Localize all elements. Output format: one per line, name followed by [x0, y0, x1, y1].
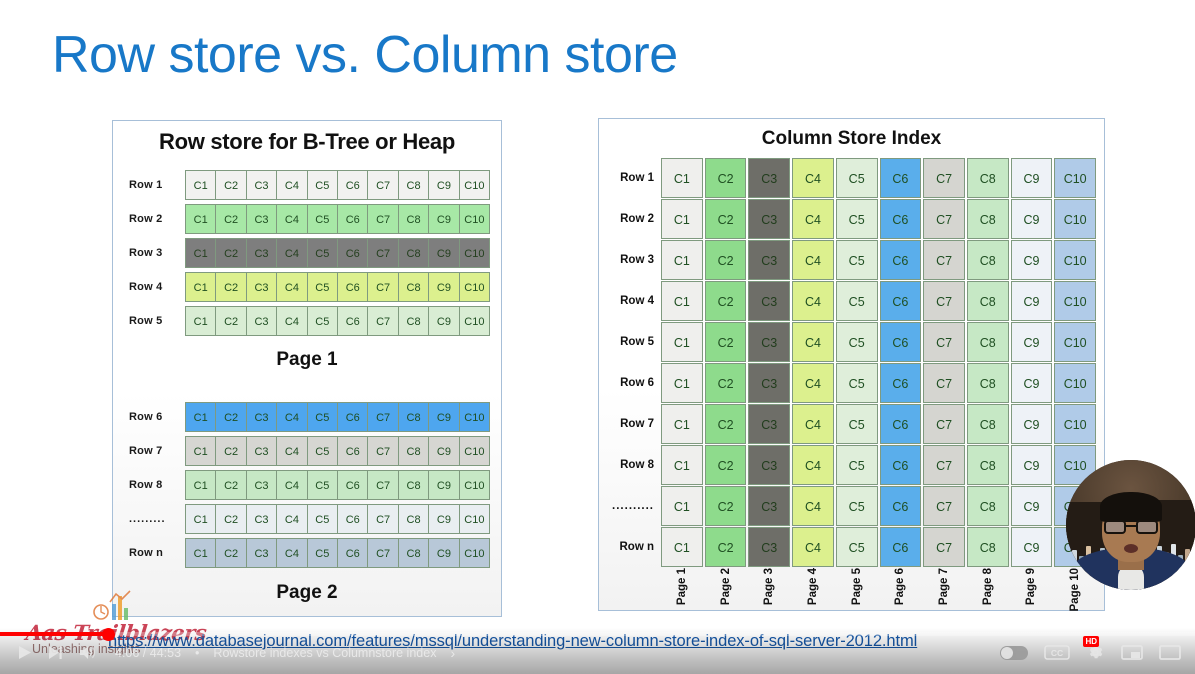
colstore-cell: C8 — [967, 445, 1009, 485]
colstore-cell: C8 — [967, 486, 1009, 526]
rowstore-cell: C6 — [337, 272, 368, 302]
colstore-row-label: Row n — [599, 541, 661, 553]
rowstore-row-label: Row 3 — [113, 247, 185, 259]
rowstore-cell: C1 — [185, 402, 216, 432]
rowstore-row-label: Row 8 — [113, 479, 185, 491]
colstore-cell: C4 — [792, 527, 834, 567]
player-left-controls: 4:06 / 44:53 • Rowstore indexes vs Colum… — [16, 644, 455, 661]
rowstore-cell: C10 — [459, 538, 490, 568]
rowstore-cell: C5 — [307, 170, 338, 200]
colstore-cell: C3 — [748, 445, 790, 485]
rowstore-cell: C4 — [276, 170, 307, 200]
colstore-cell: C8 — [967, 240, 1009, 280]
colstore-row-cells: C1C2C3C4C5C6C7C8C9C10 — [661, 322, 1104, 362]
colstore-row-cells: C1C2C3C4C5C6C7C8C9C10 — [661, 158, 1104, 198]
colstore-cell: C5 — [836, 404, 878, 444]
colstore-title: Column Store Index — [599, 128, 1104, 150]
rowstore-cell: C6 — [337, 170, 368, 200]
page-title: Row store vs. Column store — [52, 28, 678, 83]
rowstore-cell: C9 — [428, 470, 459, 500]
colstore-cell: C4 — [792, 363, 834, 403]
rowstore-row: Row 4C1C2C3C4C5C6C7C8C9C10 — [113, 271, 501, 302]
rowstore-cell: C2 — [215, 504, 246, 534]
colstore-cell: C6 — [880, 281, 922, 321]
rowstore-cell: C7 — [367, 504, 398, 534]
rowstore-cell: C5 — [307, 504, 338, 534]
presenter-glasses — [1104, 520, 1158, 534]
rowstore-cell: C8 — [398, 238, 429, 268]
colstore-cell: C9 — [1011, 527, 1053, 567]
colstore-cell: C10 — [1054, 322, 1096, 362]
colstore-cell: C5 — [836, 158, 878, 198]
rowstore-cell: C1 — [185, 170, 216, 200]
colstore-cell: C1 — [661, 199, 703, 239]
rowstore-row-cells: C1C2C3C4C5C6C7C8C9C10 — [185, 170, 501, 200]
colstore-cell: C4 — [792, 158, 834, 198]
colstore-page-labels-row: Page 1Page 2Page 3Page 4Page 5Page 6Page… — [599, 568, 1104, 620]
colstore-panel: Column Store Index Row 1C1C2C3C4C5C6C7C8… — [598, 118, 1105, 611]
colstore-cell: C5 — [836, 199, 878, 239]
rowstore-row: Row 8C1C2C3C4C5C6C7C8C9C10 — [113, 469, 501, 500]
colstore-cell: C4 — [792, 404, 834, 444]
rowstore-cell: C7 — [367, 204, 398, 234]
presenter-mouth — [1124, 544, 1138, 553]
colstore-cell: C6 — [880, 445, 922, 485]
rowstore-cell: C1 — [185, 504, 216, 534]
rowstore-row-cells: C1C2C3C4C5C6C7C8C9C10 — [185, 436, 501, 466]
colstore-cell: C4 — [792, 199, 834, 239]
rowstore-cell: C9 — [428, 436, 459, 466]
colstore-cell: C7 — [923, 363, 965, 403]
fullscreen-icon[interactable] — [1159, 644, 1181, 661]
rowstore-row-cells: C1C2C3C4C5C6C7C8C9C10 — [185, 204, 501, 234]
rowstore-cell: C8 — [398, 306, 429, 336]
rowstore-cell: C7 — [367, 470, 398, 500]
rowstore-row: Row 2C1C2C3C4C5C6C7C8C9C10 — [113, 203, 501, 234]
rowstore-cell: C7 — [367, 306, 398, 336]
rowstore-cell: C2 — [215, 272, 246, 302]
rowstore-page-1: Row 1C1C2C3C4C5C6C7C8C9C10Row 2C1C2C3C4C… — [113, 169, 501, 339]
rowstore-cell: C3 — [246, 470, 277, 500]
rowstore-row: Row 7C1C2C3C4C5C6C7C8C9C10 — [113, 435, 501, 466]
colstore-cell: C9 — [1011, 363, 1053, 403]
rowstore-row: Row 5C1C2C3C4C5C6C7C8C9C10 — [113, 305, 501, 336]
rowstore-row: Row 3C1C2C3C4C5C6C7C8C9C10 — [113, 237, 501, 268]
colstore-row-cells: C1C2C3C4C5C6C7C8C9C10 — [661, 240, 1104, 280]
colstore-row-label: Row 7 — [599, 418, 661, 430]
rowstore-cell: C10 — [459, 170, 490, 200]
colstore-cell: C4 — [792, 445, 834, 485]
colstore-page-label: Page 9 — [1011, 568, 1053, 620]
rowstore-cell: C10 — [459, 238, 490, 268]
colstore-cell: C2 — [705, 158, 747, 198]
colstore-row-cells: C1C2C3C4C5C6C7C8C9C10 — [661, 486, 1104, 526]
rowstore-row-label: Row 4 — [113, 281, 185, 293]
colstore-cell: C6 — [880, 322, 922, 362]
colstore-cell: C3 — [748, 404, 790, 444]
rowstore-cell: C7 — [367, 436, 398, 466]
colstore-page-label: Page 6 — [880, 568, 922, 620]
colstore-cell: C2 — [705, 527, 747, 567]
rowstore-row-label: Row 2 — [113, 213, 185, 225]
colstore-row: Row 5C1C2C3C4C5C6C7C8C9C10 — [599, 321, 1104, 362]
rowstore-cell: C2 — [215, 238, 246, 268]
closed-captions-icon[interactable]: CC — [1044, 644, 1070, 661]
rowstore-cell: C6 — [337, 470, 368, 500]
colstore-cell: C10 — [1054, 404, 1096, 444]
colstore-row: Row 6C1C2C3C4C5C6C7C8C9C10 — [599, 362, 1104, 403]
rowstore-cell: C2 — [215, 204, 246, 234]
time-chapter-separator: • — [195, 646, 199, 660]
rowstore-row-cells: C1C2C3C4C5C6C7C8C9C10 — [185, 272, 501, 302]
rowstore-cell: C1 — [185, 272, 216, 302]
rowstore-cell: C5 — [307, 436, 338, 466]
rowstore-cell: C1 — [185, 538, 216, 568]
rowstore-cell: C2 — [215, 402, 246, 432]
colstore-cell: C3 — [748, 486, 790, 526]
colstore-cell: C6 — [880, 158, 922, 198]
colstore-row: ..........C1C2C3C4C5C6C7C8C9C10 — [599, 485, 1104, 526]
rowstore-cell: C3 — [246, 504, 277, 534]
colstore-cell: C7 — [923, 322, 965, 362]
colstore-cell: C2 — [705, 404, 747, 444]
rowstore-cell: C9 — [428, 504, 459, 534]
colstore-cell: C1 — [661, 445, 703, 485]
progress-played — [0, 632, 108, 636]
colstore-cell: C5 — [836, 281, 878, 321]
rowstore-cell: C1 — [185, 436, 216, 466]
rowstore-cell: C2 — [215, 436, 246, 466]
colstore-cell: C8 — [967, 363, 1009, 403]
rowstore-row-cells: C1C2C3C4C5C6C7C8C9C10 — [185, 470, 501, 500]
rowstore-cell: C8 — [398, 470, 429, 500]
rowstore-row: Row 6C1C2C3C4C5C6C7C8C9C10 — [113, 401, 501, 432]
rowstore-cell: C3 — [246, 538, 277, 568]
rowstore-row: Row nC1C2C3C4C5C6C7C8C9C10 — [113, 537, 501, 568]
colstore-row-label: Row 1 — [599, 172, 661, 184]
colstore-cell: C3 — [748, 158, 790, 198]
colstore-cell: C10 — [1054, 158, 1096, 198]
colstore-row-label: Row 2 — [599, 213, 661, 225]
colstore-cell: C8 — [967, 199, 1009, 239]
rowstore-row-label: Row n — [113, 547, 185, 559]
rowstore-cell: C6 — [337, 402, 368, 432]
colstore-cell: C8 — [967, 158, 1009, 198]
colstore-cell: C9 — [1011, 281, 1053, 321]
colstore-cell: C5 — [836, 527, 878, 567]
rowstore-row-label: Row 1 — [113, 179, 185, 191]
rowstore-cell: C1 — [185, 306, 216, 336]
presenter-hair — [1100, 492, 1162, 522]
colstore-cell: C7 — [923, 445, 965, 485]
colstore-cell: C2 — [705, 281, 747, 321]
rowstore-cell: C6 — [337, 204, 368, 234]
rowstore-cell: C4 — [276, 538, 307, 568]
rowstore-cell: C10 — [459, 504, 490, 534]
colstore-cell: C6 — [880, 199, 922, 239]
colstore-cell: C2 — [705, 486, 747, 526]
rowstore-cell: C8 — [398, 170, 429, 200]
colstore-row-cells: C1C2C3C4C5C6C7C8C9C10 — [661, 527, 1104, 567]
colstore-cell: C5 — [836, 445, 878, 485]
rowstore-cell: C9 — [428, 306, 459, 336]
rowstore-cell: C9 — [428, 238, 459, 268]
rowstore-cell: C9 — [428, 538, 459, 568]
colstore-page-label: Page 1 — [661, 568, 703, 620]
video-control-bar: 4:06 / 44:53 • Rowstore indexes vs Colum… — [0, 628, 1195, 674]
rowstore-cell: C3 — [246, 402, 277, 432]
colstore-cell: C3 — [748, 240, 790, 280]
colstore-cell: C5 — [836, 322, 878, 362]
rowstore-cell: C3 — [246, 238, 277, 268]
rowstore-cell: C10 — [459, 470, 490, 500]
colstore-page-label: Page 2 — [705, 568, 747, 620]
colstore-cell: C8 — [967, 281, 1009, 321]
colstore-row-label: Row 5 — [599, 336, 661, 348]
colstore-cell: C10 — [1054, 199, 1096, 239]
colstore-row-cells: C1C2C3C4C5C6C7C8C9C10 — [661, 445, 1104, 485]
rowstore-cell: C6 — [337, 538, 368, 568]
colstore-cell: C1 — [661, 322, 703, 362]
colstore-cell: C7 — [923, 199, 965, 239]
rowstore-row: Row 1C1C2C3C4C5C6C7C8C9C10 — [113, 169, 501, 200]
rowstore-row-cells: C1C2C3C4C5C6C7C8C9C10 — [185, 306, 501, 336]
colstore-cell: C3 — [748, 199, 790, 239]
rowstore-cell: C10 — [459, 204, 490, 234]
rowstore-cell: C1 — [185, 238, 216, 268]
colstore-cell: C2 — [705, 199, 747, 239]
colstore-cell: C7 — [923, 404, 965, 444]
colstore-cell: C2 — [705, 363, 747, 403]
rowstore-panel: Row store for B-Tree or Heap Row 1C1C2C3… — [112, 120, 502, 617]
colstore-cell: C7 — [923, 527, 965, 567]
colstore-cell: C9 — [1011, 486, 1053, 526]
svg-text:CC: CC — [1051, 648, 1063, 658]
rowstore-cell: C3 — [246, 204, 277, 234]
colstore-row: Row 2C1C2C3C4C5C6C7C8C9C10 — [599, 198, 1104, 239]
chart-logo-icon — [92, 588, 138, 626]
autoplay-toggle[interactable] — [1000, 646, 1028, 660]
colstore-cell: C9 — [1011, 199, 1053, 239]
video-chapter-title[interactable]: Rowstore indexes vs Columnstore index — [213, 646, 436, 660]
rowstore-cell: C3 — [246, 436, 277, 466]
colstore-cell: C3 — [748, 527, 790, 567]
rowstore-cell: C5 — [307, 402, 338, 432]
colstore-row-cells: C1C2C3C4C5C6C7C8C9C10 — [661, 199, 1104, 239]
colstore-cell: C1 — [661, 281, 703, 321]
colstore-row-cells: C1C2C3C4C5C6C7C8C9C10 — [661, 404, 1104, 444]
quality-hd-badge: HD — [1083, 636, 1099, 647]
colstore-cell: C6 — [880, 240, 922, 280]
rowstore-cell: C6 — [337, 436, 368, 466]
colstore-cell: C6 — [880, 486, 922, 526]
rowstore-cell: C10 — [459, 402, 490, 432]
colstore-page-label: Page 8 — [967, 568, 1009, 620]
video-progress-bar[interactable] — [0, 632, 1195, 636]
colstore-cell: C4 — [792, 486, 834, 526]
rowstore-row-cells: C1C2C3C4C5C6C7C8C9C10 — [185, 504, 501, 534]
rowstore-cell: C7 — [367, 272, 398, 302]
rowstore-cell: C1 — [185, 204, 216, 234]
rowstore-cell: C6 — [337, 238, 368, 268]
colstore-row-label: Row 4 — [599, 295, 661, 307]
page-caption-2: Page 2 — [113, 582, 501, 604]
colstore-cell: C2 — [705, 322, 747, 362]
colstore-cell: C1 — [661, 158, 703, 198]
rowstore-cell: C2 — [215, 470, 246, 500]
colstore-cell: C9 — [1011, 445, 1053, 485]
rowstore-cell: C3 — [246, 306, 277, 336]
colstore-cell: C7 — [923, 158, 965, 198]
rowstore-cell: C5 — [307, 470, 338, 500]
miniplayer-icon[interactable] — [1121, 644, 1143, 661]
colstore-cell: C4 — [792, 322, 834, 362]
rowstore-cell: C9 — [428, 402, 459, 432]
progress-scrubber-handle[interactable] — [102, 628, 115, 641]
page-caption-1: Page 1 — [113, 349, 501, 371]
rowstore-cell: C8 — [398, 402, 429, 432]
rowstore-cell: C7 — [367, 170, 398, 200]
colstore-row-label: .......... — [599, 500, 661, 512]
colstore-row-label: Row 3 — [599, 254, 661, 266]
colstore-cell: C6 — [880, 527, 922, 567]
rowstore-row-label: Row 6 — [113, 411, 185, 423]
colstore-cell: C9 — [1011, 240, 1053, 280]
colstore-page-label: Page 7 — [923, 568, 965, 620]
rowstore-cell: C8 — [398, 504, 429, 534]
rowstore-cell: C4 — [276, 436, 307, 466]
colstore-cell: C1 — [661, 527, 703, 567]
colstore-cell: C1 — [661, 240, 703, 280]
colstore-cell: C5 — [836, 363, 878, 403]
rowstore-cell: C4 — [276, 470, 307, 500]
rowstore-row-cells: C1C2C3C4C5C6C7C8C9C10 — [185, 402, 501, 432]
colstore-cell: C4 — [792, 281, 834, 321]
rowstore-cell: C9 — [428, 272, 459, 302]
rowstore-cell: C5 — [307, 306, 338, 336]
rowstore-cell: C10 — [459, 436, 490, 466]
rowstore-cell: C7 — [367, 538, 398, 568]
colstore-cell: C6 — [880, 404, 922, 444]
colstore-row-label: Row 6 — [599, 377, 661, 389]
colstore-cell: C7 — [923, 281, 965, 321]
colstore-cell: C8 — [967, 404, 1009, 444]
rowstore-cell: C8 — [398, 204, 429, 234]
colstore-row: Row 4C1C2C3C4C5C6C7C8C9C10 — [599, 280, 1104, 321]
rowstore-cell: C5 — [307, 272, 338, 302]
rowstore-cell: C5 — [307, 238, 338, 268]
rowstore-cell: C8 — [398, 538, 429, 568]
colstore-cell: C10 — [1054, 363, 1096, 403]
video-time-display: 4:06 / 44:53 — [115, 646, 181, 660]
colstore-row-label: Row 8 — [599, 459, 661, 471]
rowstore-cell: C2 — [215, 170, 246, 200]
colstore-row: Row 3C1C2C3C4C5C6C7C8C9C10 — [599, 239, 1104, 280]
colstore-cell: C1 — [661, 486, 703, 526]
rowstore-cell: C6 — [337, 504, 368, 534]
colstore-cell: C10 — [1054, 240, 1096, 280]
colstore-cell: C6 — [880, 363, 922, 403]
colstore-row-cells: C1C2C3C4C5C6C7C8C9C10 — [661, 363, 1104, 403]
colstore-cell: C3 — [748, 281, 790, 321]
colstore-row: Row 7C1C2C3C4C5C6C7C8C9C10 — [599, 403, 1104, 444]
colstore-cell: C9 — [1011, 404, 1053, 444]
play-icon[interactable] — [16, 644, 33, 661]
colstore-grid: Row 1C1C2C3C4C5C6C7C8C9C10Row 2C1C2C3C4C… — [599, 157, 1104, 620]
rowstore-cell: C4 — [276, 306, 307, 336]
colstore-cell: C5 — [836, 240, 878, 280]
next-track-icon[interactable] — [47, 644, 64, 661]
rowstore-cell: C7 — [367, 238, 398, 268]
colstore-cell: C5 — [836, 486, 878, 526]
colstore-cell: C8 — [967, 527, 1009, 567]
colstore-page-label: Page 5 — [836, 568, 878, 620]
colstore-page-label: Page 4 — [792, 568, 834, 620]
rowstore-cell: C5 — [307, 204, 338, 234]
rowstore-row-label: Row 7 — [113, 445, 185, 457]
rowstore-cell: C5 — [307, 538, 338, 568]
slide-canvas: Row store vs. Column store Row store for… — [0, 0, 1195, 674]
colstore-cell: C10 — [1054, 281, 1096, 321]
colstore-row-cells: C1C2C3C4C5C6C7C8C9C10 — [661, 281, 1104, 321]
rowstore-cell: C4 — [276, 402, 307, 432]
rowstore-cell: C8 — [398, 436, 429, 466]
rowstore-cell: C4 — [276, 272, 307, 302]
rowstore-row: .........C1C2C3C4C5C6C7C8C9C10 — [113, 503, 501, 534]
rowstore-page-2: Row 6C1C2C3C4C5C6C7C8C9C10Row 7C1C2C3C4C… — [113, 401, 501, 571]
rowstore-row-cells: C1C2C3C4C5C6C7C8C9C10 — [185, 238, 501, 268]
rowstore-row-cells: C1C2C3C4C5C6C7C8C9C10 — [185, 538, 501, 568]
presenter-webcam-overlay[interactable] — [1066, 460, 1195, 590]
chapter-chevron-icon[interactable]: › — [450, 645, 455, 661]
rowstore-cell: C8 — [398, 272, 429, 302]
rowstore-title: Row store for B-Tree or Heap — [113, 129, 501, 155]
colstore-cell: C9 — [1011, 322, 1053, 362]
rowstore-cell: C10 — [459, 306, 490, 336]
colstore-cell: C3 — [748, 363, 790, 403]
rowstore-cell: C10 — [459, 272, 490, 302]
colstore-page-label: Page 3 — [748, 568, 790, 620]
colstore-cell: C9 — [1011, 158, 1053, 198]
colstore-row: Row nC1C2C3C4C5C6C7C8C9C10 — [599, 526, 1104, 567]
colstore-row: Row 8C1C2C3C4C5C6C7C8C9C10 — [599, 444, 1104, 485]
rowstore-cell: C3 — [246, 170, 277, 200]
rowstore-cell: C7 — [367, 402, 398, 432]
volume-icon[interactable] — [78, 644, 97, 661]
rowstore-row-label: ......... — [113, 513, 185, 525]
colstore-cell: C2 — [705, 240, 747, 280]
rowstore-cell: C9 — [428, 170, 459, 200]
rowstore-cell: C3 — [246, 272, 277, 302]
rowstore-cell: C9 — [428, 204, 459, 234]
colstore-row: Row 1C1C2C3C4C5C6C7C8C9C10 — [599, 157, 1104, 198]
colstore-cell: C8 — [967, 322, 1009, 362]
colstore-cell: C1 — [661, 363, 703, 403]
rowstore-cell: C4 — [276, 504, 307, 534]
rowstore-cell: C2 — [215, 306, 246, 336]
rowstore-cell: C4 — [276, 204, 307, 234]
rowstore-cell: C4 — [276, 238, 307, 268]
colstore-cell: C7 — [923, 240, 965, 280]
rowstore-row-label: Row 5 — [113, 315, 185, 327]
rowstore-cell: C2 — [215, 538, 246, 568]
colstore-cell: C7 — [923, 486, 965, 526]
colstore-cell: C2 — [705, 445, 747, 485]
colstore-cell: C1 — [661, 404, 703, 444]
colstore-cell: C3 — [748, 322, 790, 362]
colstore-cell: C4 — [792, 240, 834, 280]
rowstore-cell: C6 — [337, 306, 368, 336]
